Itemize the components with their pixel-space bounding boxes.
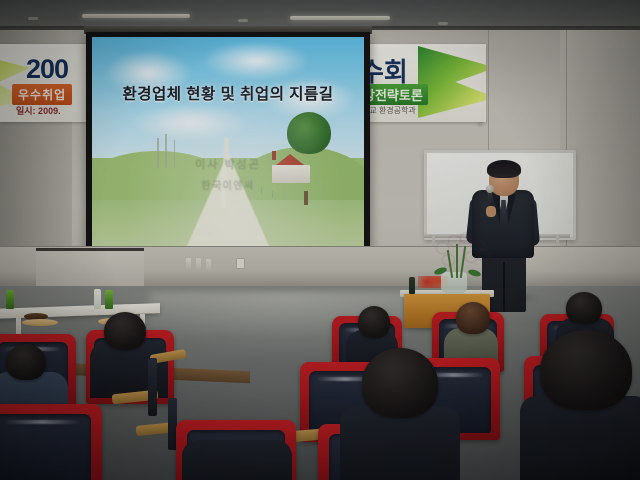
event-banner-right: 수회 강전략토론 학교 환경공학과 <box>352 44 486 122</box>
slide-cloud <box>130 103 250 143</box>
speaker-hand <box>486 206 496 217</box>
slide-presenter-org: 한국이엔씨 <box>92 177 364 192</box>
projected-slide: 환경업체 현황 및 취업의 지름길 이사 박성곤 한국이엔씨 <box>92 37 364 257</box>
snack-plate <box>22 319 58 326</box>
ceiling-light-fixture <box>290 16 390 20</box>
speaker-glasses <box>492 175 516 182</box>
orchid-bloom <box>449 236 460 246</box>
audience-head <box>456 302 490 334</box>
green-bottle <box>105 290 113 309</box>
audience-shoulders <box>182 440 292 480</box>
table-bottle <box>409 277 415 294</box>
audience-head <box>358 306 390 338</box>
speaker-lapel <box>508 194 516 224</box>
orchid-bloom <box>443 255 454 265</box>
wall-outlet <box>236 258 245 269</box>
floor-bottle <box>206 259 211 270</box>
orchid-bloom <box>478 250 489 260</box>
orchid-bloom <box>461 233 472 243</box>
seat-highlight <box>4 420 80 424</box>
white-bottle <box>94 289 101 309</box>
audience-head <box>540 330 632 410</box>
audience-head <box>566 292 602 324</box>
banner-date-label: 일시: 2009. <box>16 104 61 117</box>
audience-head <box>362 348 438 418</box>
slide-tree <box>287 112 331 154</box>
ceiling-light-small <box>28 17 38 20</box>
orchid-bloom <box>472 240 483 250</box>
floor-bottle <box>196 258 201 269</box>
orchid-bloom <box>437 243 448 253</box>
slide-fence-post <box>272 191 274 198</box>
speaker-leg-split <box>503 262 505 312</box>
orchid-stem <box>456 244 458 278</box>
projection-screen: 환경업체 현황 및 취업의 지름길 이사 박성곤 한국이엔씨 <box>86 32 370 264</box>
ceiling-light-small <box>238 19 248 22</box>
banner-chip-label: 우수취업 <box>12 84 72 105</box>
slide-title-text: 환경업체 현황 및 취업의 지름길 <box>92 82 364 104</box>
banner-sub-label: 학교 환경공학과 <box>362 105 416 116</box>
slide-presenter-name: 이사 박성곤 <box>92 156 364 172</box>
seat-arm-post <box>148 358 157 416</box>
lecture-hall-photo: 200 우수취업 일시: 2009. 수회 강전략토론 학교 환경공학과 <box>0 0 640 480</box>
green-bottle <box>6 290 14 309</box>
audience-head <box>104 312 146 350</box>
audience-head <box>6 344 46 380</box>
ceiling-light-fixture <box>82 14 190 18</box>
flower-vase <box>441 272 467 294</box>
banner-year-text: 200 <box>26 54 68 85</box>
microphone-head-icon <box>486 185 494 193</box>
ceiling-light-small <box>438 22 448 25</box>
slide-tree-trunk <box>304 191 308 205</box>
banner-swoosh-icon <box>418 46 486 118</box>
floor-bottle <box>186 258 191 269</box>
orchid-bloom <box>466 252 477 262</box>
auditorium-seat[interactable] <box>0 404 102 480</box>
